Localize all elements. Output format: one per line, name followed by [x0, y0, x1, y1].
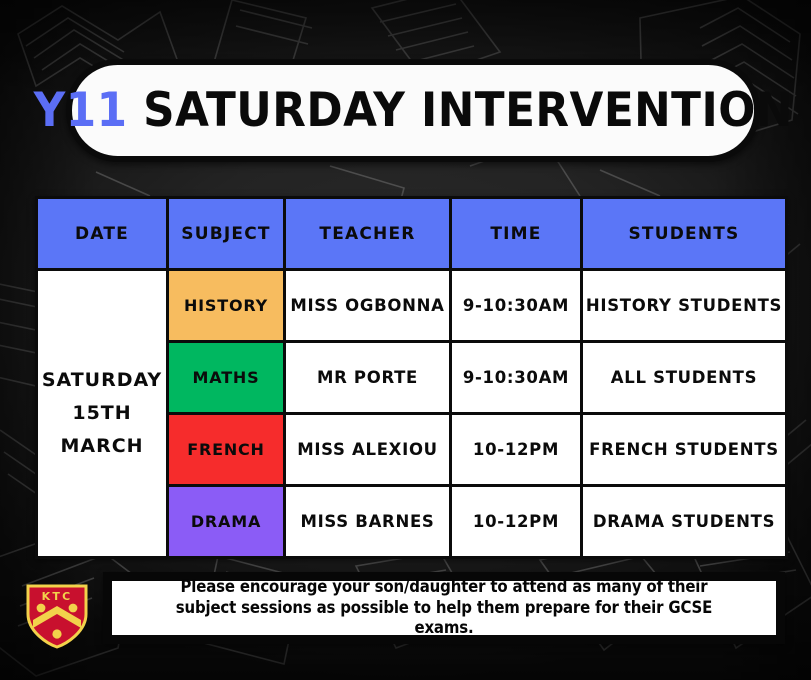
teacher-cell: MISS OGBONNA: [285, 270, 451, 342]
students-cell: FRENCH STUDENTS: [582, 414, 787, 486]
time-cell: 10-12PM: [451, 414, 582, 486]
title-year-label: Y11: [33, 83, 127, 138]
school-crest-logo: KTC: [24, 580, 90, 650]
time-cell: 10-12PM: [451, 486, 582, 558]
date-line-2: 15TH: [38, 397, 166, 430]
footer-line-2: sessions as possible to help them prepar…: [241, 598, 712, 639]
students-cell: ALL STUDENTS: [582, 342, 787, 414]
page-title: Y11 SATURDAY INTERVENTION: [33, 87, 792, 134]
teacher-cell: MISS ALEXIOU: [285, 414, 451, 486]
crest-emblem-bottom: [52, 629, 61, 638]
teacher-cell: MISS BARNES: [285, 486, 451, 558]
column-header-students: STUDENTS: [582, 198, 787, 270]
date-cell: SATURDAY 15TH MARCH: [37, 270, 168, 558]
table-header-row: DATE SUBJECT TEACHER TIME STUDENTS: [37, 198, 787, 270]
footer-message-box: Please encourage your son/daughter to at…: [103, 572, 785, 644]
crest-emblem-left: [37, 604, 46, 613]
title-banner: Y11 SATURDAY INTERVENTION: [66, 59, 760, 162]
footer-message: Please encourage your son/daughter to at…: [164, 577, 724, 639]
column-header-subject: SUBJECT: [168, 198, 285, 270]
date-line-1: SATURDAY: [38, 364, 166, 397]
date-line-3: MARCH: [38, 430, 166, 463]
column-header-date: DATE: [37, 198, 168, 270]
title-main-text: SATURDAY INTERVENTION: [143, 83, 793, 138]
students-cell: HISTORY STUDENTS: [582, 270, 787, 342]
title-main-label: [127, 83, 143, 138]
column-header-teacher: TEACHER: [285, 198, 451, 270]
students-cell: DRAMA STUDENTS: [582, 486, 787, 558]
crest-emblem-right: [69, 604, 78, 613]
crest-initials: KTC: [42, 590, 73, 603]
poster-root: Y11 SATURDAY INTERVENTION DATE SUBJECT T…: [0, 0, 811, 680]
table-row: SATURDAY 15TH MARCH HISTORY MISS OGBONNA…: [37, 270, 787, 342]
intervention-schedule-table: DATE SUBJECT TEACHER TIME STUDENTS SATUR…: [35, 196, 788, 559]
subject-cell-drama: DRAMA: [168, 486, 285, 558]
teacher-cell: MR PORTE: [285, 342, 451, 414]
column-header-time: TIME: [451, 198, 582, 270]
subject-cell-french: FRENCH: [168, 414, 285, 486]
subject-cell-maths: MATHS: [168, 342, 285, 414]
time-cell: 9-10:30AM: [451, 342, 582, 414]
time-cell: 9-10:30AM: [451, 270, 582, 342]
subject-cell-history: HISTORY: [168, 270, 285, 342]
